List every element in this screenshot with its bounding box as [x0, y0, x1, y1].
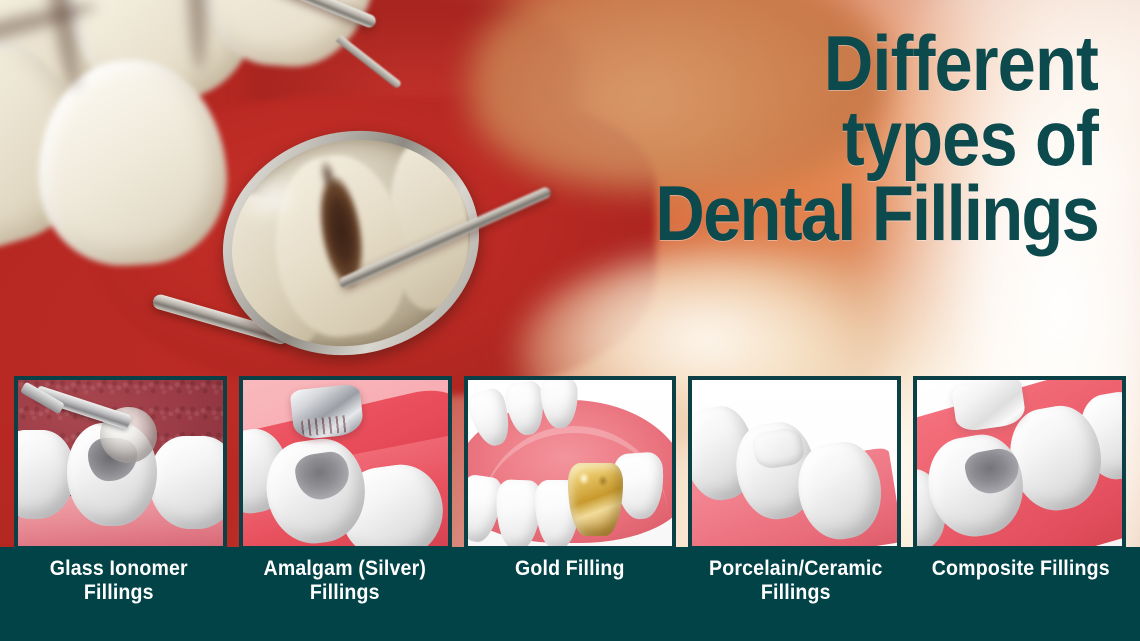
- filling-types-strip: [0, 376, 1140, 550]
- title-line-2: types of: [605, 101, 1098, 176]
- caption-line: Amalgam (Silver): [239, 557, 449, 581]
- glass-ionomer-filling-illustration: [18, 380, 223, 546]
- card-composite-fillings[interactable]: [913, 376, 1126, 550]
- title-line-1: Different: [605, 26, 1098, 101]
- caption-bar: Glass Ionomer Fillings Amalgam (Silver) …: [0, 547, 1140, 641]
- gold-crown: [568, 463, 623, 536]
- porcelain-ceramic-filling-illustration: [692, 380, 897, 546]
- caption-line: Fillings: [691, 581, 901, 605]
- caption-glass-ionomer: Glass Ionomer Fillings: [14, 547, 224, 641]
- caption-gold-filling: Gold Filling: [465, 547, 675, 641]
- title-line-3: Dental Fillings: [605, 176, 1098, 251]
- caption-amalgam-silver: Amalgam (Silver) Fillings: [239, 547, 449, 641]
- amalgam-silver-filling-illustration: [243, 380, 448, 546]
- caption-porcelain-ceramic: Porcelain/Ceramic Fillings: [691, 547, 901, 641]
- card-glass-ionomer[interactable]: [14, 376, 227, 550]
- caption-line: Fillings: [239, 581, 449, 605]
- poster: Different types of Dental Fillings: [0, 0, 1140, 641]
- card-gold-filling[interactable]: [464, 376, 677, 550]
- gold-filling-illustration: [468, 380, 673, 546]
- page-title: Different types of Dental Fillings: [605, 26, 1098, 251]
- caption-line: Porcelain/Ceramic: [691, 557, 901, 581]
- card-porcelain-ceramic[interactable]: [688, 376, 901, 550]
- caption-line: Composite Fillings: [916, 557, 1126, 581]
- caption-line: Gold Filling: [465, 557, 675, 581]
- caption-line: Glass Ionomer: [14, 557, 224, 581]
- caption-line: Fillings: [14, 581, 224, 605]
- composite-filling-illustration: [917, 380, 1122, 546]
- card-amalgam-silver[interactable]: [239, 376, 452, 550]
- caption-composite-fillings: Composite Fillings: [916, 547, 1126, 641]
